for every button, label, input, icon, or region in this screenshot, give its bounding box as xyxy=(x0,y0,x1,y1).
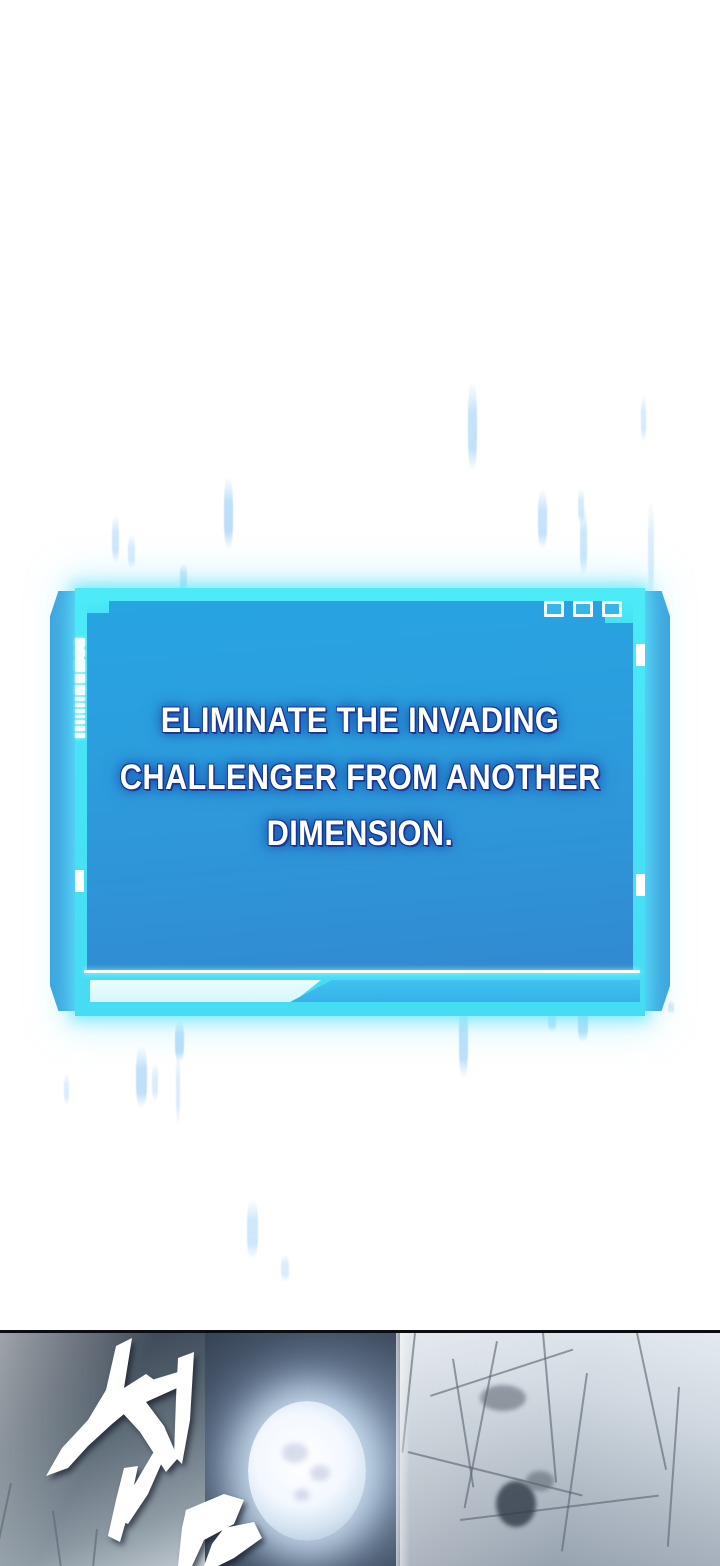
system-notification-window: ELIMINATE THE INVADING CHALLENGER FROM A… xyxy=(50,588,670,1026)
moonlit-cliff-panel xyxy=(0,1330,720,1566)
moon-crater xyxy=(294,1489,310,1501)
moonlight-rim xyxy=(396,1333,410,1566)
gauge-segment xyxy=(75,649,85,657)
particle-streak xyxy=(176,1050,180,1125)
particle-streak xyxy=(64,1073,69,1105)
rock-crack xyxy=(561,1373,588,1552)
hud-gauge-indicator xyxy=(74,638,86,740)
particle-streak xyxy=(136,1046,147,1108)
window-control-2-icon[interactable] xyxy=(573,601,593,617)
notification-message: ELIMINATE THE INVADING CHALLENGER FROM A… xyxy=(120,693,600,863)
message-line-3: DIMENSION. xyxy=(120,806,600,863)
hud-progress-bar xyxy=(90,980,640,1002)
gauge-segment xyxy=(75,685,85,695)
moon-crater xyxy=(310,1465,330,1481)
gauge-segment xyxy=(75,720,85,724)
rock-crack xyxy=(667,1387,680,1547)
gauge-segment xyxy=(75,638,85,647)
particle-streak xyxy=(128,534,135,569)
rock-crack xyxy=(464,1341,498,1508)
cliff-right xyxy=(400,1333,720,1566)
rock-crack xyxy=(0,1483,11,1566)
particle-streak xyxy=(580,507,587,575)
particle-streak xyxy=(468,381,477,471)
message-line-2: CHALLENGER FROM ANOTHER xyxy=(120,750,600,807)
gauge-segment xyxy=(75,715,85,719)
bezel-notch-right-top xyxy=(636,644,645,666)
webtoon-page: ELIMINATE THE INVADING CHALLENGER FROM A… xyxy=(0,0,720,1566)
particle-streak xyxy=(578,488,584,524)
gauge-segment xyxy=(75,659,85,672)
particle-streak xyxy=(648,500,654,598)
particle-streak xyxy=(641,394,646,442)
message-line-1: ELIMINATE THE INVADING xyxy=(120,693,600,750)
rock-shadow xyxy=(526,1471,554,1491)
gauge-segment xyxy=(75,733,85,738)
hud-divider-line xyxy=(84,970,640,973)
particle-streak xyxy=(175,1020,184,1062)
window-controls[interactable] xyxy=(544,601,622,617)
particle-streak xyxy=(224,477,233,549)
rock-crack xyxy=(636,1333,667,1470)
rock-crack xyxy=(460,1495,659,1521)
gauge-segment xyxy=(75,709,85,713)
hud-progress-fill xyxy=(90,980,321,1002)
rock-crack xyxy=(92,1529,98,1566)
full-moon xyxy=(248,1401,366,1541)
gauge-segment xyxy=(75,697,85,702)
gauge-segment xyxy=(75,703,85,707)
gauge-segment xyxy=(75,674,85,682)
particle-streak xyxy=(281,1254,289,1282)
top-white-scene: ELIMINATE THE INVADING CHALLENGER FROM A… xyxy=(0,0,720,1330)
bezel-notch-right-bottom xyxy=(636,874,645,896)
moon-crater xyxy=(282,1443,308,1463)
bezel-notch-left-bottom xyxy=(75,870,84,892)
window-control-3-icon[interactable] xyxy=(602,601,622,617)
particle-streak xyxy=(538,489,547,549)
window-control-1-icon[interactable] xyxy=(544,601,564,617)
cliff-left xyxy=(0,1333,205,1566)
particle-streak xyxy=(152,1062,158,1102)
particle-streak xyxy=(112,515,119,563)
hud-progress-track xyxy=(290,980,640,1002)
rock-crack xyxy=(52,1511,62,1566)
gauge-segment xyxy=(75,726,85,732)
rock-shadow xyxy=(480,1385,526,1411)
hud-screen-corner-notch xyxy=(87,601,109,613)
particle-streak xyxy=(247,1199,258,1259)
